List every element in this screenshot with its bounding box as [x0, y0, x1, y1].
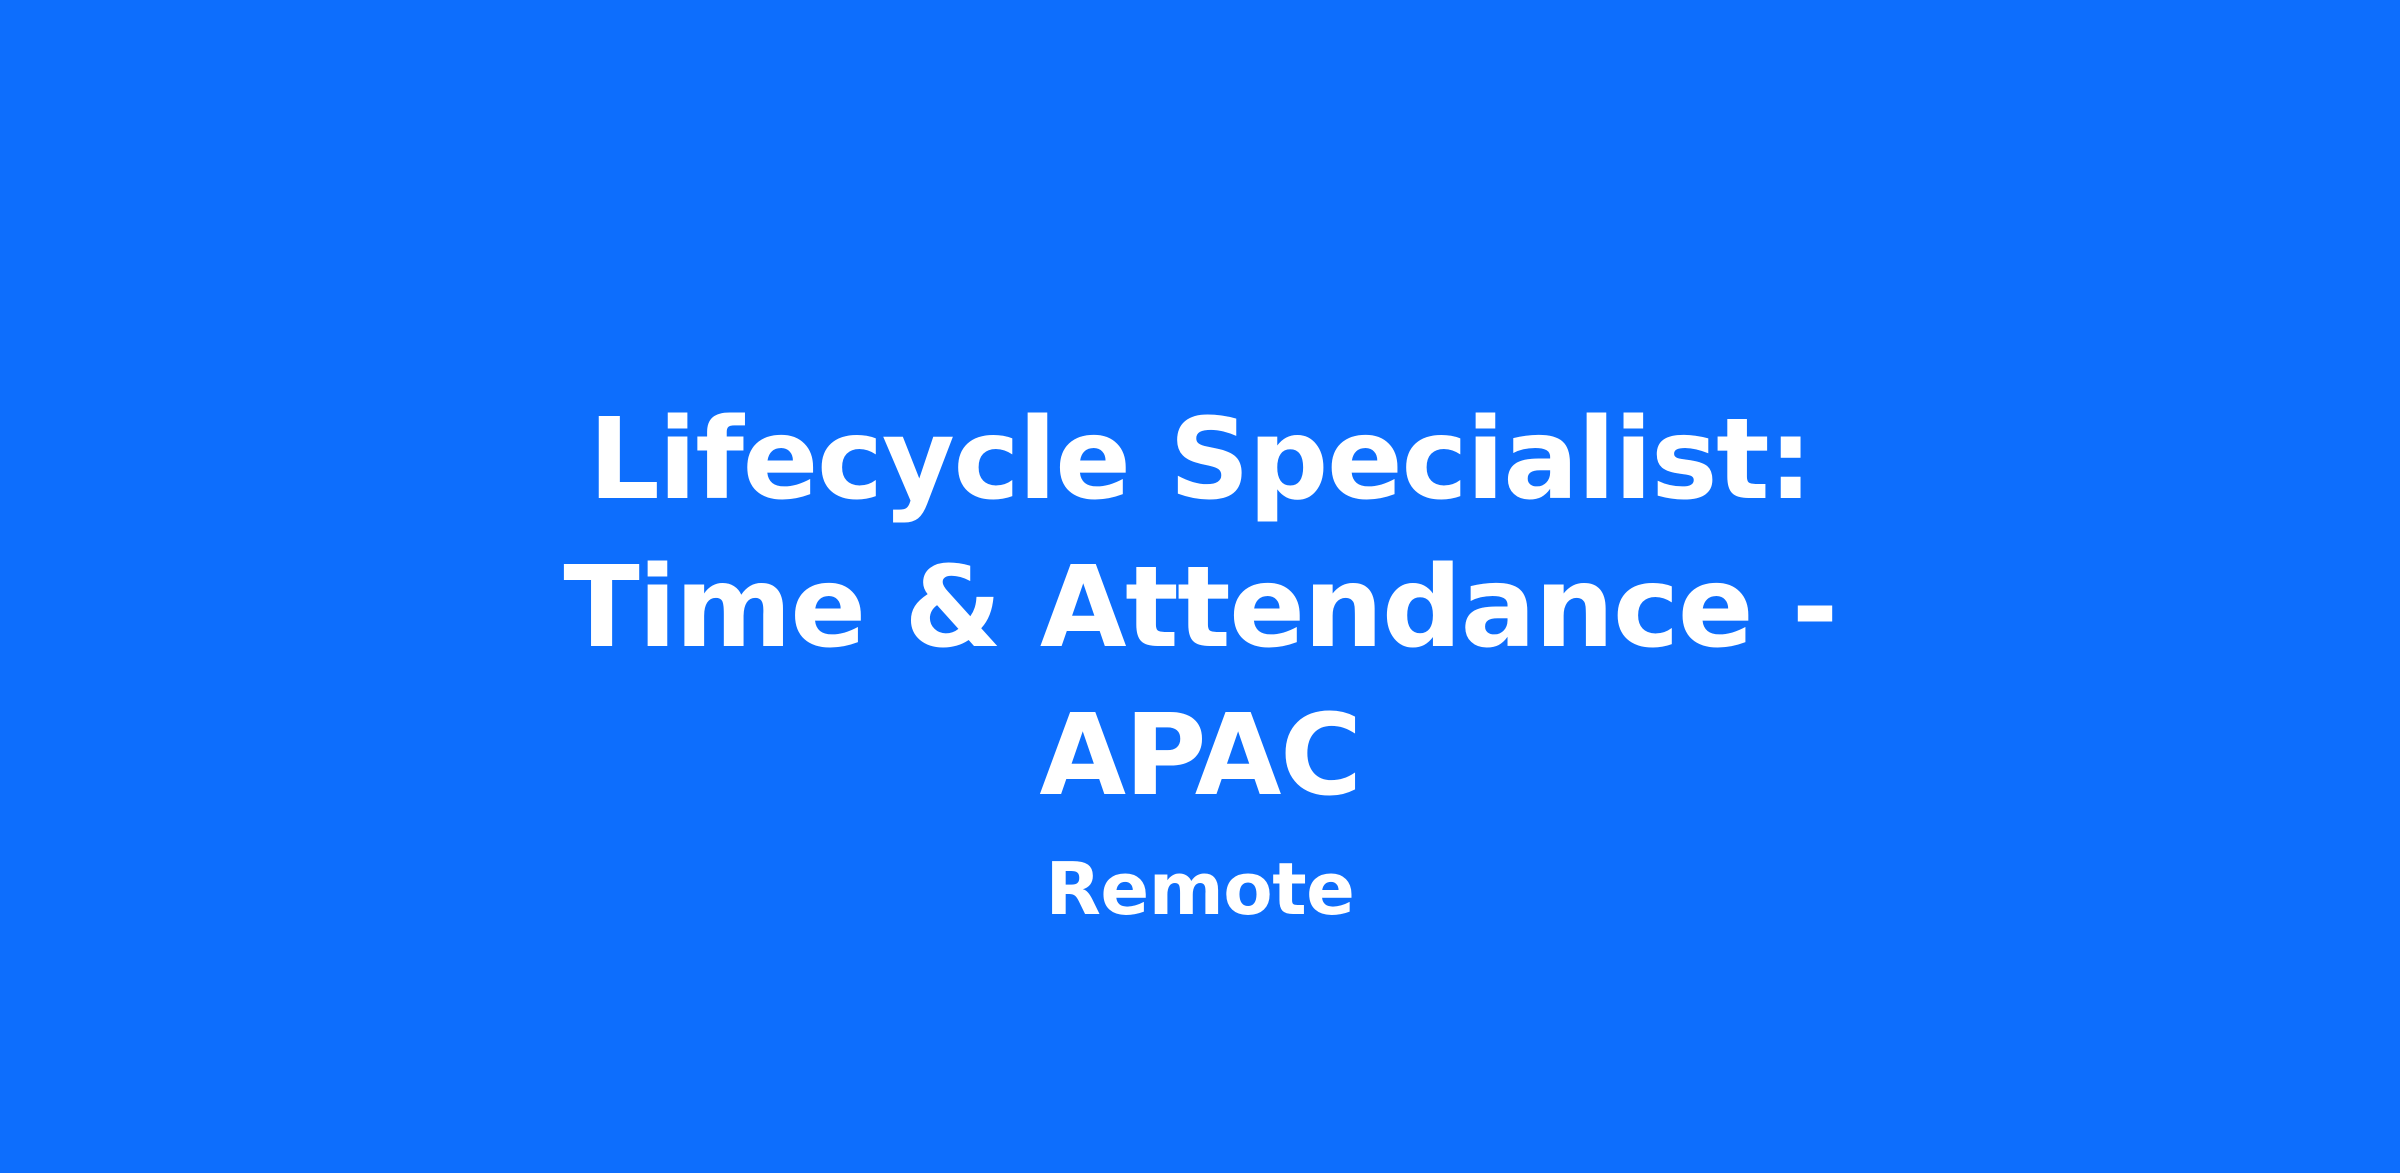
job-location-subtitle: Remote [420, 846, 1980, 932]
page-title: Lifecycle Specialist: Time & Attendance … [420, 386, 1980, 830]
job-posting-hero-banner: Lifecycle Specialist: Time & Attendance … [0, 0, 2400, 1173]
hero-content: Lifecycle Specialist: Time & Attendance … [420, 386, 1980, 932]
